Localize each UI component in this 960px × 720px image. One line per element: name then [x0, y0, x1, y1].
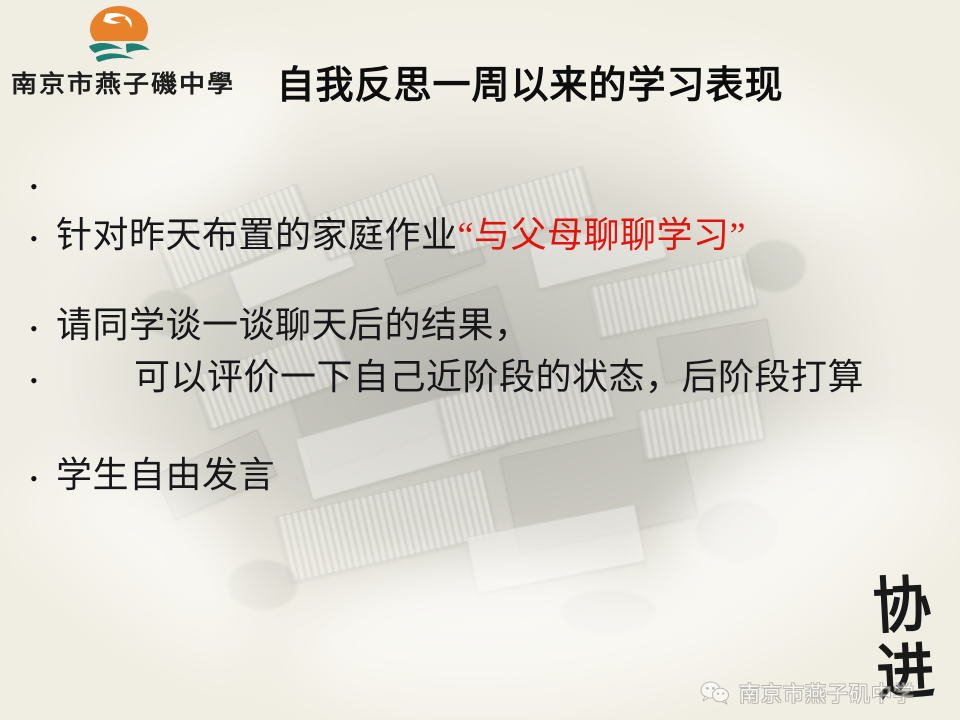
- bullet-icon: •: [30, 452, 56, 490]
- bullet-list: • • 针对昨天布置的家庭作业“与父母聊聊学习” • 请同学谈一谈聊天后的结果，…: [30, 160, 940, 504]
- calligraphy-char-1: 协: [854, 570, 949, 642]
- list-item: •: [30, 160, 940, 206]
- wechat-icon: [700, 681, 730, 705]
- bullet-icon: •: [30, 160, 56, 198]
- school-logo-text: 南京市燕子磯中學: [8, 65, 238, 99]
- list-item: • 学生自由发言: [30, 452, 940, 498]
- list-item-highlight-text: “与父母聊聊学习”: [458, 215, 746, 255]
- bullet-icon: •: [30, 354, 56, 392]
- list-item-text: 针对昨天布置的家庭作业“与父母聊聊学习”: [56, 212, 940, 258]
- page-title: 自我反思一周以来的学习表现: [240, 66, 820, 108]
- wechat-watermark: 南京市燕子矶中学: [700, 678, 915, 708]
- list-item-text: 可以评价一下自己近阶段的状态，后阶段打算: [56, 354, 940, 400]
- list-item: • 可以评价一下自己近阶段的状态，后阶段打算: [30, 354, 940, 400]
- school-logo: 南京市燕子磯中學: [8, 4, 238, 102]
- list-item-plain-text: 针对昨天布置的家庭作业: [56, 215, 458, 255]
- list-spacer: [30, 264, 940, 302]
- list-item: • 针对昨天布置的家庭作业“与父母聊聊学习”: [30, 212, 940, 258]
- bullet-icon: •: [30, 302, 56, 340]
- bullet-icon: •: [30, 212, 56, 250]
- list-spacer: [30, 406, 940, 452]
- list-item-plain-text: 可以评价一下自己近阶段的状态，后阶段打算: [134, 357, 864, 397]
- wechat-watermark-text: 南京市燕子矶中学: [739, 678, 915, 708]
- list-item: • 请同学谈一谈聊天后的结果，: [30, 302, 940, 348]
- list-item-text: 请同学谈一谈聊天后的结果，: [56, 302, 940, 348]
- sun-and-waves-emblem-icon: [82, 4, 156, 66]
- list-item-text: 学生自由发言: [56, 452, 940, 498]
- presentation-slide: 南京市燕子磯中學 自我反思一周以来的学习表现 • • 针对昨天布置的家庭作业“与…: [0, 0, 960, 720]
